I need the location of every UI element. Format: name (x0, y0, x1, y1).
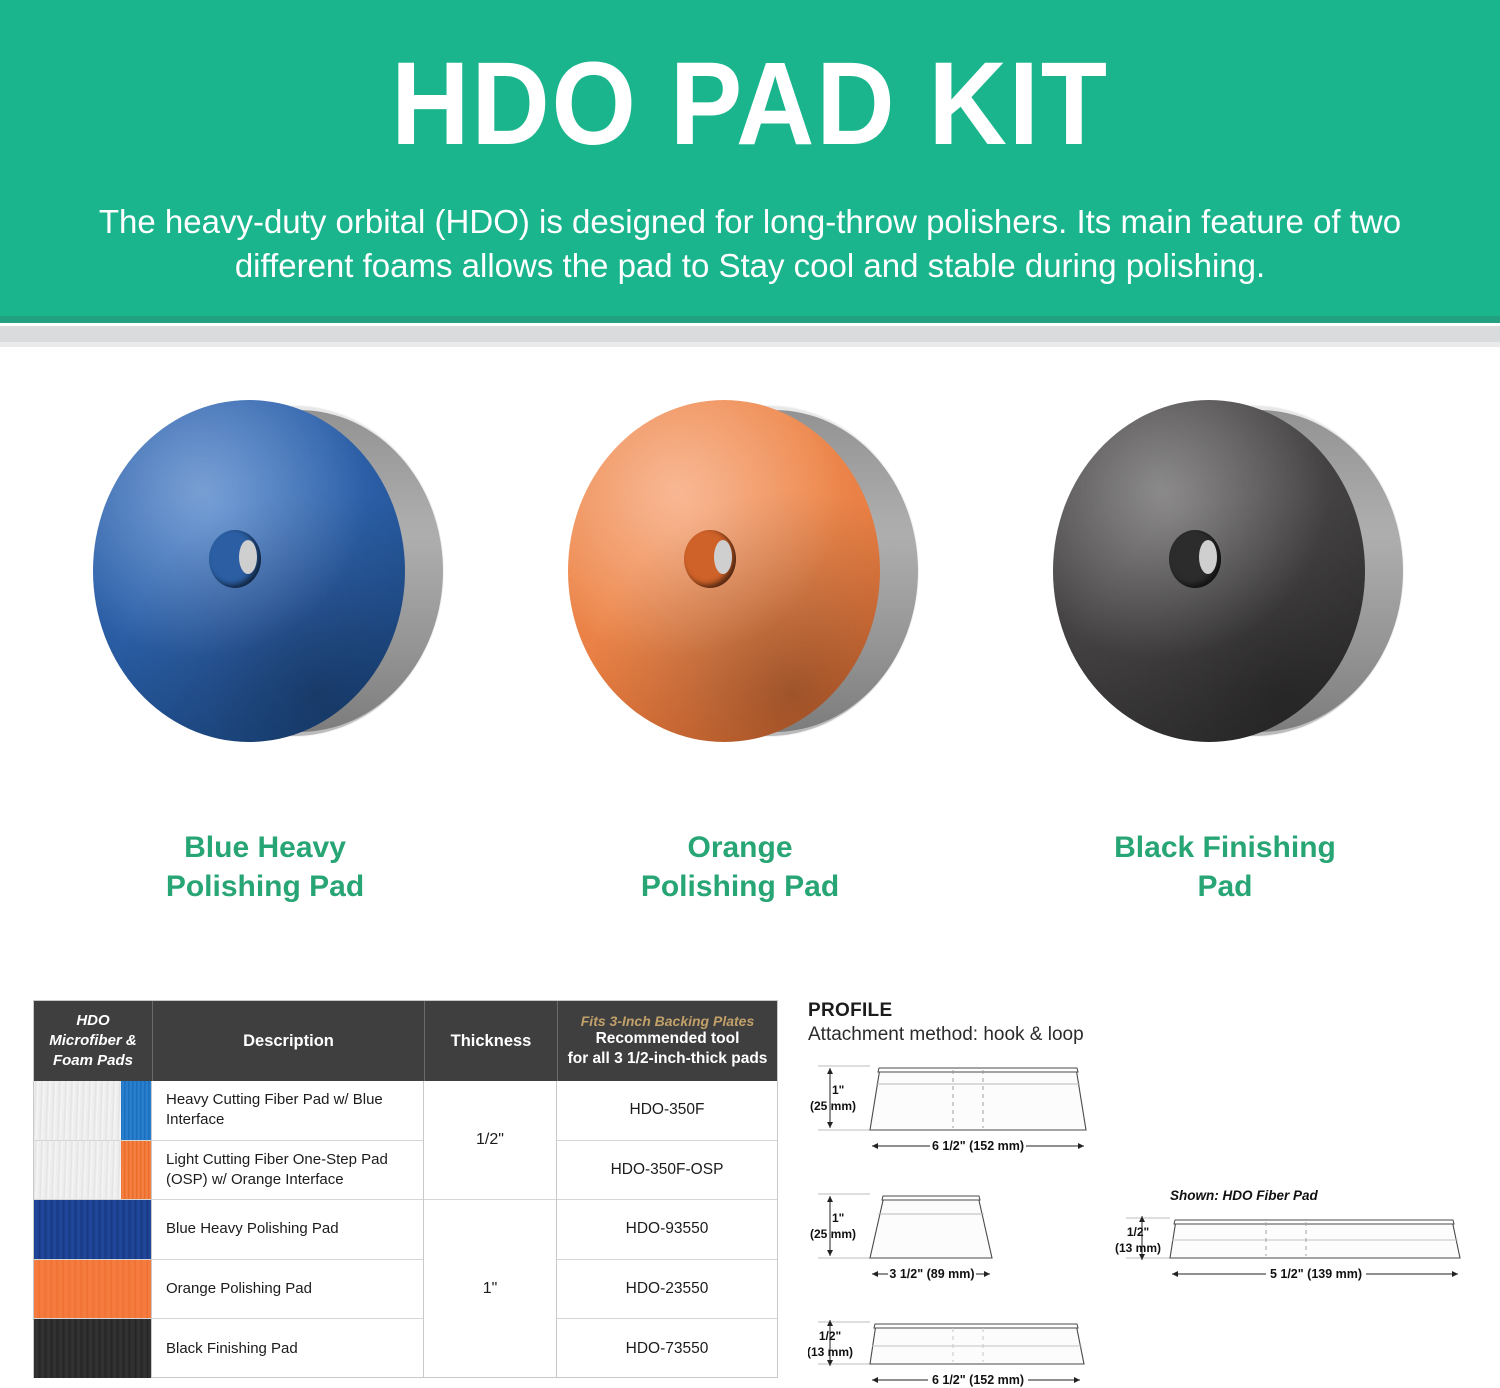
pad-card-blue: Blue Heavy Polishing Pad (25, 360, 505, 920)
table-body: Heavy Cutting Fiber Pad w/ Blue Interfac… (34, 1081, 777, 1378)
header-hdo-line1: HDO (76, 1011, 109, 1031)
pad-center-hole (1169, 530, 1221, 588)
svg-text:5 1/2" (139 mm): 5 1/2" (139 mm) (1270, 1267, 1362, 1281)
black-pad-image (1045, 370, 1405, 770)
pad-center-hole (209, 530, 261, 588)
pad-label-blue: Blue Heavy Polishing Pad (25, 829, 505, 906)
swatch-fiber-blue (34, 1081, 151, 1141)
swatch-solid-blue (34, 1200, 151, 1260)
pad-label-black: Black Finishing Pad (985, 829, 1465, 906)
header-thickness: Thickness (424, 1001, 557, 1081)
hero-underline (0, 316, 1500, 323)
table-row: Blue Heavy Polishing Pad (152, 1200, 423, 1260)
pad-center-hole (684, 530, 736, 588)
pad-label-line1: Blue Heavy (184, 831, 346, 864)
header-recommended-tool: Fits 3-Inch Backing Plates Recommended t… (557, 1001, 777, 1081)
swatch-column (34, 1081, 152, 1378)
pad-label-line2: Polishing Pad (166, 870, 364, 903)
diagram-hdo-fiber-pad: Shown: HDO Fiber Pad 1/2" (13 mm) 5 1/2"… (1115, 1188, 1460, 1282)
tool-code: HDO-23550 (557, 1260, 777, 1320)
pad-card-black: Black Finishing Pad (985, 360, 1465, 920)
svg-text:6 1/2" (152 mm): 6 1/2" (152 mm) (932, 1139, 1024, 1153)
header-hdo-line3: Foam Pads (53, 1051, 133, 1071)
table-row: Orange Polishing Pad (152, 1260, 423, 1320)
pad-label-orange: Orange Polishing Pad (500, 829, 980, 906)
pad-card-orange: Orange Polishing Pad (500, 360, 980, 920)
table-header-row: HDO Microfiber & Foam Pads Description T… (34, 1001, 777, 1081)
diagram-6half-1inch: 1" (25 mm) 6 1/2" (152 mm) (810, 1066, 1086, 1154)
swatch-solid-orange (34, 1260, 151, 1320)
svg-text:6 1/2" (152 mm): 6 1/2" (152 mm) (932, 1373, 1024, 1387)
page-title: HDO PAD KIT (60, 44, 1440, 164)
svg-text:(13 mm): (13 mm) (1115, 1241, 1161, 1255)
pad-label-line2: Pad (1197, 870, 1252, 903)
table-row: Black Finishing Pad (152, 1319, 423, 1378)
thickness-column: 1/2" 1" (424, 1081, 557, 1378)
profile-diagrams: 1" (25 mm) 6 1/2" (152 mm) 1" (25 mm) (808, 1058, 1498, 1388)
hero-banner: HDO PAD KIT The heavy-duty orbital (HDO)… (0, 0, 1500, 316)
svg-text:Shown: HDO Fiber Pad: Shown: HDO Fiber Pad (1170, 1188, 1319, 1203)
header-tool-line2: for all 3 1/2-inch-thick pads (568, 1050, 768, 1069)
pad-label-line2: Polishing Pad (641, 870, 839, 903)
description-column: Heavy Cutting Fiber Pad w/ Blue Interfac… (152, 1081, 424, 1378)
tool-code: HDO-93550 (557, 1200, 777, 1260)
profile-panel: PROFILE Attachment method: hook & loop 1… (808, 1000, 1498, 1388)
pad-label-line1: Orange (687, 831, 792, 864)
pad-showcase: Blue Heavy Polishing Pad Orange Polishin… (0, 360, 1500, 920)
blue-pad-image (85, 370, 445, 770)
table-row: Light Cutting Fiber One-Step Pad (OSP) w… (152, 1141, 423, 1201)
svg-text:(25 mm): (25 mm) (810, 1099, 856, 1113)
tool-column: HDO-350F HDO-350F-OSP HDO-93550 HDO-2355… (557, 1081, 777, 1378)
hero-gray-band (0, 326, 1500, 342)
swatch-solid-black (34, 1319, 151, 1378)
diagram-6half-half-inch: 1/2" (13 mm) 6 1/2" (152 mm) (808, 1320, 1084, 1388)
svg-text:(25 mm): (25 mm) (810, 1227, 856, 1241)
tool-code: HDO-350F-OSP (557, 1141, 777, 1201)
thickness-group-half: 1/2" (424, 1081, 556, 1200)
svg-text:1/2": 1/2" (819, 1329, 841, 1343)
pad-label-line1: Black Finishing (1114, 831, 1336, 864)
table-row: Heavy Cutting Fiber Pad w/ Blue Interfac… (152, 1081, 423, 1141)
diagram-3half-1inch: 1" (25 mm) 3 1/2" (89 mm) (810, 1194, 992, 1282)
tool-code: HDO-73550 (557, 1319, 777, 1378)
tool-code: HDO-350F (557, 1081, 777, 1141)
svg-text:(13 mm): (13 mm) (808, 1345, 853, 1359)
spec-table: HDO Microfiber & Foam Pads Description T… (33, 1000, 778, 1378)
svg-text:1/2": 1/2" (1127, 1225, 1149, 1239)
profile-subtitle: Attachment method: hook & loop (808, 1024, 1498, 1046)
svg-text:3 1/2" (89 mm): 3 1/2" (89 mm) (889, 1267, 974, 1281)
svg-text:1": 1" (832, 1211, 844, 1225)
header-description: Description (152, 1001, 424, 1081)
hero-gray-band-light (0, 342, 1500, 347)
header-tool-line1: Recommended tool (596, 1030, 740, 1049)
product-infographic: HDO PAD KIT The heavy-duty orbital (HDO)… (0, 0, 1500, 1388)
svg-text:1": 1" (832, 1083, 844, 1097)
orange-pad-image (560, 370, 920, 770)
header-hdo-line2: Microfiber & (49, 1031, 137, 1051)
profile-title: PROFILE (808, 1000, 1498, 1022)
hero-subtitle: The heavy-duty orbital (HDO) is designed… (50, 200, 1450, 287)
swatch-fiber-orange (34, 1141, 151, 1201)
thickness-group-one: 1" (424, 1200, 556, 1378)
header-gold-note: Fits 3-Inch Backing Plates (581, 1013, 755, 1030)
header-swatch-column: HDO Microfiber & Foam Pads (34, 1001, 152, 1081)
